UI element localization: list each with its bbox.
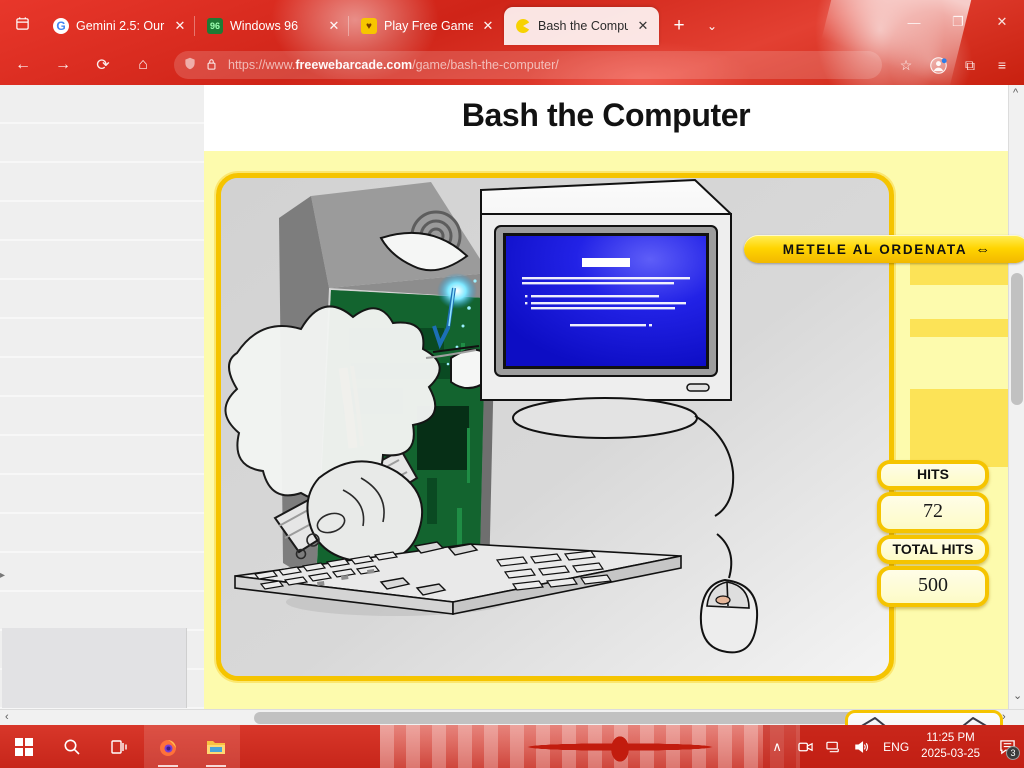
decorative-stripe [910,389,1010,467]
game-banner: METELE AL ORDENATA ⇔ [744,235,1024,263]
camera-icon[interactable] [791,725,819,768]
language-indicator[interactable]: ENG [875,740,917,754]
wrench-icon [845,710,1003,725]
tab-close-icon[interactable]: ✕ [635,18,651,34]
window-controls: — ❐ ✕ [892,3,1024,41]
extensions-icon[interactable]: ⧉ [954,50,986,80]
lock-icon [206,58,220,73]
navigation-toolbar: ← → ⟳ ⌂ https://www.freewebarcade.com/ga… [0,45,1024,85]
firefox-icon[interactable] [144,725,192,768]
address-bar[interactable]: https://www.freewebarcade.com/game/bash-… [174,51,882,79]
bsod-screen [506,236,706,366]
tab-title: Gemini 2.5: Our newes [76,19,165,33]
browser-tab-play-free-games[interactable]: ♥ Play Free Games Onlin ✕ [350,7,504,45]
decorative-stripe [910,319,1010,337]
total-hits-label-pill: TOTAL HITS [877,535,989,565]
network-icon[interactable] [819,725,847,768]
minimize-button[interactable]: — [892,7,936,37]
new-tab-button[interactable]: + [665,12,693,40]
toolbar-right: ☆ ⧉ ≡ [890,50,1018,80]
account-avatar[interactable] [922,50,954,80]
clock[interactable]: 11:25 PM 2025-03-25 [917,731,990,762]
hits-value: 72 [881,496,985,529]
search-icon[interactable] [48,725,96,768]
vertical-scroll-thumb[interactable] [1011,273,1023,405]
page-content: Bash the Computer [204,85,1008,709]
notifications-icon[interactable]: 3 [990,725,1024,768]
windows96-icon: 96 [207,18,223,34]
total-hits-value: 500 [881,570,985,603]
tab-title: Bash the Computer [538,19,628,33]
clock-date: 2025-03-25 [921,747,980,763]
page-vertical-scrollbar[interactable]: ^ ⌄ [1008,85,1024,709]
page-left-gutter: ▸ [0,85,204,709]
chevron-up-icon[interactable]: ∧ [763,725,791,768]
browser-tab-gemini[interactable]: G Gemini 2.5: Our newes ✕ [42,7,196,45]
tab-close-icon[interactable]: ✕ [480,18,496,34]
address-bar-text: https://www.freewebarcade.com/game/bash-… [228,58,559,72]
close-window-button[interactable]: ✕ [980,7,1024,37]
back-button[interactable]: ← [6,50,40,80]
bookmark-star-icon[interactable]: ☆ [890,50,922,80]
chevron-down-icon[interactable]: ⌄ [699,12,725,40]
browser-tab-bash-the-computer[interactable]: Bash the Computer ✕ [504,7,659,45]
clock-time: 11:25 PM [921,731,980,747]
shield-icon: ♥ [361,18,377,34]
total-hits-label: TOTAL HITS [881,539,985,561]
tab-close-icon[interactable]: ✕ [326,18,342,34]
gutter-marker: ▸ [0,570,5,581]
tab-strip: G Gemini 2.5: Our newes ✕ 96 Windows 96 … [0,0,1024,45]
shield-icon [184,57,198,73]
page-viewport: ▸ Bash the Computer [0,85,1024,725]
hits-label-pill: HITS [877,460,989,490]
start-button[interactable] [0,725,48,768]
forward-button[interactable]: → [46,50,80,80]
tab-title: Play Free Games Onlin [384,19,473,33]
home-button[interactable]: ⌂ [126,50,160,80]
double-arrow-icon: ⇔ [975,242,990,257]
taskbar-decorative-graphic [470,735,770,765]
scoreboard: HITS 72 TOTAL HITS 500 [873,460,993,609]
browser-tab-windows96[interactable]: 96 Windows 96 ✕ [196,7,350,45]
page-title: Bash the Computer [204,97,1008,134]
file-explorer-icon[interactable] [192,725,240,768]
game-container: METELE AL ORDENATA ⇔ [204,151,1008,709]
tab-list-icon[interactable] [6,8,38,38]
hits-value-pill: 72 [877,492,989,533]
tab-title: Windows 96 [230,19,319,33]
windows-taskbar: ∧ ENG 11:25 PM 2025-03-25 3 [0,725,1024,768]
gemini-icon: G [53,18,69,34]
scroll-left-icon[interactable]: ‹ [5,711,9,723]
repair-button[interactable]: REPAIR [845,710,1003,725]
banner-label: METELE AL ORDENATA [783,242,968,257]
task-view-icon[interactable] [96,725,144,768]
tab-close-icon[interactable]: ✕ [172,18,188,34]
system-tray: ∧ ENG 11:25 PM 2025-03-25 3 [763,725,1024,768]
browser-window: G Gemini 2.5: Our newes ✕ 96 Windows 96 … [0,0,1024,725]
maximize-button[interactable]: ❐ [936,7,980,37]
volume-icon[interactable] [847,725,875,768]
reload-button[interactable]: ⟳ [86,50,120,80]
scroll-down-icon[interactable]: ⌄ [1013,689,1022,702]
gutter-placeholder-box [2,628,187,708]
notification-badge: 3 [1006,746,1020,760]
browser-menu-icon[interactable]: ≡ [986,50,1018,80]
scroll-up-icon[interactable]: ^ [1013,87,1018,99]
total-hits-value-pill: 500 [877,566,989,607]
hits-label: HITS [881,464,985,486]
pacman-icon [515,18,531,34]
